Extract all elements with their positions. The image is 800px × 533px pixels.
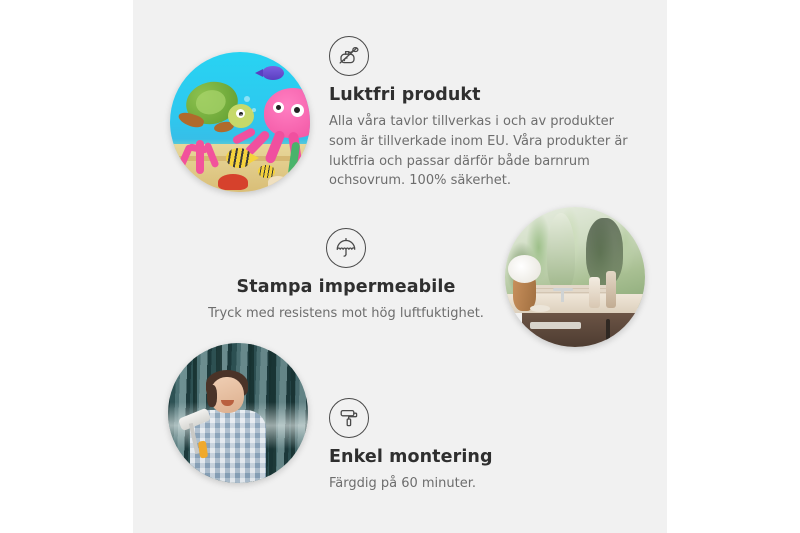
bathroom-tropical-wallpaper-circle-image — [505, 207, 645, 347]
umbrella-icon — [326, 228, 366, 268]
woman-paint-roller-forest-circle-image — [168, 343, 308, 483]
no-smell-perfume-icon — [329, 36, 369, 76]
promo-infographic: Luktfri produkt Alla våra tavlor tillver… — [0, 0, 800, 533]
feature-title: Luktfri produkt — [329, 85, 629, 106]
paint-roller-icon — [329, 398, 369, 438]
feature-title: Stampa impermeabile — [196, 277, 496, 298]
feature-body: Alla våra tavlor tillverkas i och av pro… — [329, 112, 629, 191]
underwater-cartoon-circle-image — [170, 52, 310, 192]
feature-body: Färgdig på 60 minuter. — [329, 474, 589, 494]
feature-odour-free: Luktfri produkt Alla våra tavlor tillver… — [329, 36, 629, 191]
feature-waterproof-print: Stampa impermeabile Tryck med resistens … — [196, 228, 496, 324]
feature-title: Enkel montering — [329, 447, 589, 468]
feature-body: Tryck med resistens mot hög luftfuktighe… — [196, 304, 496, 324]
feature-easy-mounting: Enkel montering Färgdig på 60 minuter. — [329, 398, 589, 494]
